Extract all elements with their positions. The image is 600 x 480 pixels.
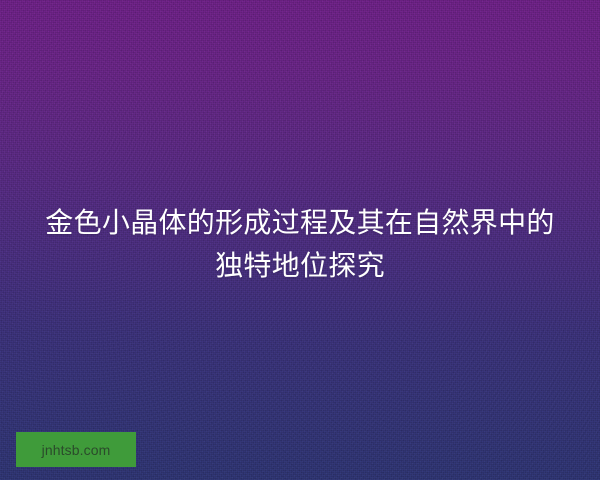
slide-title: 金色小晶体的形成过程及其在自然界中的 独特地位探究 [0, 201, 600, 287]
watermark-badge[interactable]: jnhtsb.com [16, 432, 136, 467]
title-slide: 金色小晶体的形成过程及其在自然界中的 独特地位探究 jnhtsb.com [0, 0, 600, 480]
slide-title-line-1: 金色小晶体的形成过程及其在自然界中的 [12, 201, 588, 244]
slide-title-line-2: 独特地位探究 [12, 244, 588, 287]
watermark-label: jnhtsb.com [42, 443, 111, 457]
